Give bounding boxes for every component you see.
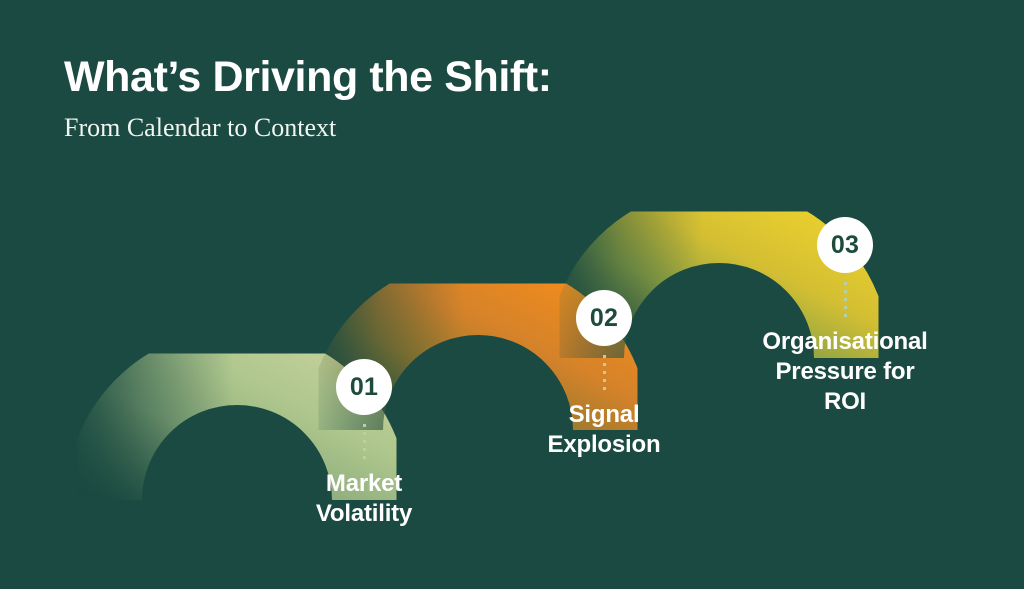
connector-dots-02 <box>603 355 606 391</box>
step-badge-02[interactable]: 02 <box>576 290 632 346</box>
step-item-01[interactable]: 01 Market Volatility <box>224 359 504 529</box>
step-label-line: Explosion <box>489 430 719 460</box>
step-item-03[interactable]: 03 Organisational Pressure for ROI <box>705 217 985 417</box>
step-number-02: 02 <box>590 306 618 331</box>
connector-dots-03 <box>844 282 847 318</box>
step-label-line: Pressure for <box>730 357 960 387</box>
step-number-03: 03 <box>831 233 859 258</box>
connector-dots-01 <box>363 424 366 460</box>
step-label-line: Signal <box>489 400 719 430</box>
step-badge-01[interactable]: 01 <box>336 359 392 415</box>
step-badge-03[interactable]: 03 <box>817 217 873 273</box>
step-label-01: Market Volatility <box>249 469 479 529</box>
step-number-01: 01 <box>350 375 378 400</box>
step-item-02[interactable]: 02 Signal Explosion <box>464 290 744 460</box>
step-label-line: Volatility <box>249 499 479 529</box>
step-label-02: Signal Explosion <box>489 400 719 460</box>
step-label-line: ROI <box>730 387 960 417</box>
infographic-slide: What’s Driving the Shift: From Calendar … <box>0 0 1024 589</box>
step-label-line: Organisational <box>730 327 960 357</box>
step-label-line: Market <box>249 469 479 499</box>
step-label-03: Organisational Pressure for ROI <box>730 327 960 417</box>
